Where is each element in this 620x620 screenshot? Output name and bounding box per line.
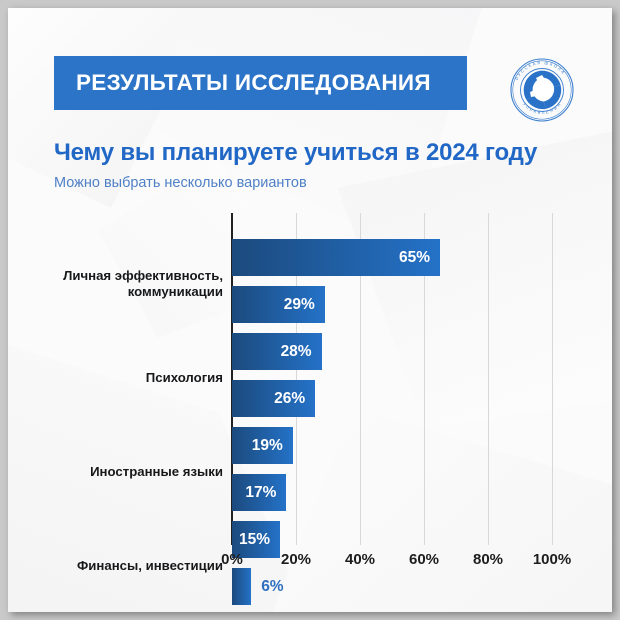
bar-row: 29%Психология xyxy=(232,286,552,323)
gridline xyxy=(552,213,553,545)
bar xyxy=(232,568,251,605)
bar-value-label: 28% xyxy=(270,333,312,370)
bar-value-label: 26% xyxy=(263,380,305,417)
category-label: Психология xyxy=(8,370,223,386)
plot-area: 65%Личная эффективность,коммуникации29%П… xyxy=(232,213,552,545)
bar-value-label: 17% xyxy=(234,474,276,511)
x-tick-label: 80% xyxy=(453,551,523,568)
bar-value-label: 19% xyxy=(241,427,283,464)
bar-value-label: 65% xyxy=(388,239,430,276)
bar-chart: 65%Личная эффективность,коммуникации29%П… xyxy=(8,8,612,612)
category-label: Иностранные языки xyxy=(8,464,223,480)
x-tick-label: 60% xyxy=(389,551,459,568)
bar-row: 28%Иностранные языки xyxy=(232,333,552,370)
x-tick-label: 20% xyxy=(261,551,331,568)
bar-row: 65%Личная эффективность,коммуникации xyxy=(232,239,552,276)
infographic-poster: РЕЗУЛЬТАТЫ ИССЛЕДОВАНИЯ РУССКАЯ ШКОЛ xyxy=(8,8,612,612)
x-tick-label: 100% xyxy=(517,551,587,568)
x-tick-label: 0% xyxy=(197,551,267,568)
bar-row: 17%Торговля, продажи xyxy=(232,474,552,511)
bar-row: 6%Управление персоналом xyxy=(232,568,552,605)
bar-value-label: 29% xyxy=(273,286,315,323)
bar-row: 26%Финансы, инвестиции xyxy=(232,380,552,417)
bar-value-label: 6% xyxy=(261,568,283,605)
category-label: Личная эффективность,коммуникации xyxy=(8,268,223,300)
category-label: Финансы, инвестиции xyxy=(8,558,223,574)
bar-row: 19%Маркетинг, реклама, PR xyxy=(232,427,552,464)
x-tick-label: 40% xyxy=(325,551,395,568)
